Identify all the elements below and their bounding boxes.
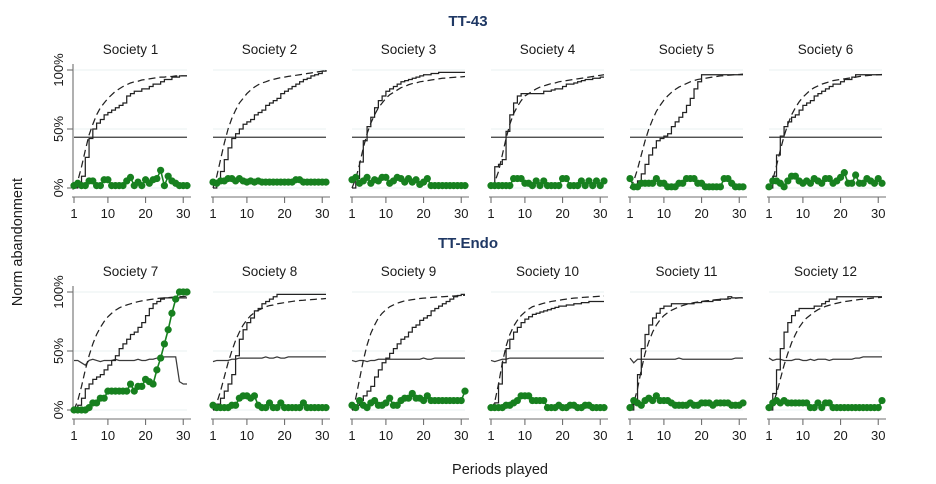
data-point-marker <box>168 310 175 317</box>
x-tick-label-10: 10 <box>657 428 671 443</box>
x-tick-label-10: 10 <box>796 428 810 443</box>
data-point-marker <box>150 380 157 387</box>
series-observed-abandonment <box>769 297 882 410</box>
data-point-marker <box>424 175 431 182</box>
series-tipping-threshold <box>491 358 604 362</box>
x-tick-label-1: 1 <box>70 428 77 443</box>
x-tick-label-10: 10 <box>379 428 393 443</box>
x-tick-label-1: 1 <box>765 206 772 221</box>
data-point-marker <box>322 404 329 411</box>
data-point-marker <box>123 388 130 395</box>
series-fitted-abandonment <box>352 76 465 188</box>
data-point-marker <box>600 177 607 184</box>
data-point-marker <box>251 392 258 399</box>
data-point-marker <box>875 404 882 411</box>
data-point-marker <box>878 397 885 404</box>
y-tick-label-50pct: 50% <box>51 338 66 364</box>
x-tick-label-10: 10 <box>796 206 810 221</box>
data-point-marker <box>97 182 104 189</box>
series-observed-abandonment <box>630 75 743 188</box>
data-point-marker <box>363 174 370 181</box>
x-tick-label-20: 20 <box>138 428 152 443</box>
data-point-marker <box>739 399 746 406</box>
data-point-marker <box>352 404 359 411</box>
x-tick-label-20: 20 <box>277 206 291 221</box>
data-point-marker <box>540 397 547 404</box>
data-point-marker <box>739 183 746 190</box>
x-axis-title: Periods played <box>452 462 548 478</box>
panel-title-society-9: Society 9 <box>381 264 437 279</box>
y-tick-label-0pct: 0% <box>51 400 66 419</box>
figure-root: TT-43TT-Endo0%50%100%1102030Society 1110… <box>0 0 936 484</box>
series-tipping-threshold <box>630 358 743 363</box>
panel-society-1: 0%50%100%1102030Society 1 <box>51 42 191 221</box>
series-fitted-abandonment <box>630 74 743 188</box>
band-title-tt-endo: TT-Endo <box>438 235 498 252</box>
series-observed-abandonment <box>352 294 465 410</box>
x-tick-label-10: 10 <box>657 206 671 221</box>
y-tick-label-100pct: 100% <box>51 53 66 87</box>
data-point-marker <box>386 395 393 402</box>
series-fitted-abandonment <box>74 76 187 188</box>
panel-title-society-4: Society 4 <box>520 42 576 57</box>
x-tick-label-30: 30 <box>871 428 885 443</box>
x-tick-label-10: 10 <box>518 428 532 443</box>
data-point-marker <box>461 388 468 395</box>
data-point-marker <box>157 167 164 174</box>
data-point-marker <box>458 397 465 404</box>
x-tick-label-30: 30 <box>176 206 190 221</box>
data-point-marker <box>232 402 239 409</box>
x-tick-label-20: 20 <box>694 206 708 221</box>
data-point-marker <box>165 326 172 333</box>
data-point-marker <box>461 182 468 189</box>
y-tick-label-0pct: 0% <box>51 178 66 197</box>
data-point-marker <box>878 180 885 187</box>
panel-title-society-7: Society 7 <box>103 264 159 279</box>
x-tick-label-1: 1 <box>765 428 772 443</box>
panel-title-society-2: Society 2 <box>242 42 298 57</box>
x-tick-label-20: 20 <box>138 206 152 221</box>
x-tick-label-10: 10 <box>379 206 393 221</box>
data-point-marker <box>848 180 855 187</box>
data-point-marker <box>101 395 108 402</box>
panel-title-society-10: Society 10 <box>516 264 579 279</box>
x-tick-label-1: 1 <box>348 206 355 221</box>
series-fitted-abandonment <box>769 297 882 410</box>
panel-title-society-6: Society 6 <box>798 42 854 57</box>
data-point-marker <box>161 340 168 347</box>
x-tick-label-30: 30 <box>732 206 746 221</box>
data-point-marker <box>104 176 111 183</box>
panel-title-society-1: Society 1 <box>103 42 159 57</box>
y-tick-label-50pct: 50% <box>51 116 66 142</box>
series-observed-abandonment <box>630 297 743 410</box>
x-tick-label-20: 20 <box>416 428 430 443</box>
data-point-marker <box>563 175 570 182</box>
x-tick-label-30: 30 <box>315 428 329 443</box>
x-tick-label-1: 1 <box>487 428 494 443</box>
data-point-marker <box>841 169 848 176</box>
x-tick-label-30: 30 <box>315 206 329 221</box>
x-tick-label-1: 1 <box>209 206 216 221</box>
data-point-marker <box>153 175 160 182</box>
multi-panel-chart: TT-43TT-Endo0%50%100%1102030Society 1110… <box>0 0 936 484</box>
data-point-marker <box>626 404 633 411</box>
panel-title-society-5: Society 5 <box>659 42 715 57</box>
x-tick-label-10: 10 <box>240 428 254 443</box>
x-tick-label-10: 10 <box>240 206 254 221</box>
x-tick-label-1: 1 <box>487 206 494 221</box>
data-point-marker <box>161 182 168 189</box>
x-tick-label-10: 10 <box>101 428 115 443</box>
data-point-marker <box>765 183 772 190</box>
series-fitted-abandonment <box>491 296 604 410</box>
x-tick-label-1: 1 <box>626 428 633 443</box>
panel-society-2: 1102030Society 2 <box>209 42 330 221</box>
panel-society-6: 1102030Society 6 <box>765 42 886 221</box>
series-observed-abandonment <box>74 76 187 188</box>
data-point-marker <box>852 171 859 178</box>
data-point-marker <box>555 182 562 189</box>
x-tick-label-1: 1 <box>626 206 633 221</box>
data-point-marker <box>506 182 513 189</box>
data-point-marker <box>157 354 164 361</box>
data-point-marker <box>780 183 787 190</box>
panel-title-society-8: Society 8 <box>242 264 298 279</box>
x-tick-label-30: 30 <box>593 206 607 221</box>
data-point-marker <box>153 366 160 373</box>
data-point-marker <box>717 183 724 190</box>
x-tick-label-30: 30 <box>732 428 746 443</box>
data-point-marker <box>138 182 145 189</box>
data-point-marker <box>183 182 190 189</box>
panel-society-7: 0%50%100%1102030Society 7 <box>51 264 191 443</box>
data-point-marker <box>183 288 190 295</box>
y-tick-label-100pct: 100% <box>51 275 66 309</box>
y-axis-title: Norm abandonment <box>10 178 26 306</box>
panel-title-society-3: Society 3 <box>381 42 437 57</box>
series-observed-abandonment <box>491 301 604 410</box>
data-point-marker <box>352 174 359 181</box>
series-fitted-abandonment <box>630 298 743 410</box>
x-tick-label-30: 30 <box>871 206 885 221</box>
panel-society-9: 1102030Society 9 <box>348 264 469 443</box>
data-point-marker <box>138 383 145 390</box>
panel-society-5: 1102030Society 5 <box>626 42 747 221</box>
x-tick-label-30: 30 <box>454 206 468 221</box>
x-tick-label-30: 30 <box>454 428 468 443</box>
panel-society-4: 1102030Society 4 <box>487 42 608 221</box>
panel-society-11: 1102030Society 11 <box>626 264 747 443</box>
x-tick-label-1: 1 <box>209 428 216 443</box>
series-observed-abandonment <box>213 294 326 410</box>
data-point-marker <box>600 404 607 411</box>
series-tipping-threshold <box>352 358 465 362</box>
x-tick-label-20: 20 <box>833 206 847 221</box>
panel-society-10: 1102030Society 10 <box>487 264 608 443</box>
x-tick-label-1: 1 <box>348 428 355 443</box>
x-tick-label-20: 20 <box>277 428 291 443</box>
data-point-marker <box>322 179 329 186</box>
data-point-marker <box>172 295 179 302</box>
x-tick-label-10: 10 <box>101 206 115 221</box>
data-point-marker <box>382 174 389 181</box>
panel-society-8: 1102030Society 8 <box>209 264 330 443</box>
panel-society-12: 1102030Society 12 <box>765 264 886 443</box>
data-point-marker <box>127 174 134 181</box>
series-fitted-abandonment <box>213 298 326 410</box>
x-tick-label-20: 20 <box>833 428 847 443</box>
x-tick-label-10: 10 <box>518 206 532 221</box>
panel-title-society-12: Society 12 <box>794 264 857 279</box>
data-point-marker <box>626 175 633 182</box>
band-title-tt-43: TT-43 <box>448 13 487 30</box>
series-tipping-threshold <box>74 357 187 384</box>
x-tick-label-20: 20 <box>694 428 708 443</box>
x-tick-label-1: 1 <box>70 206 77 221</box>
x-tick-label-20: 20 <box>416 206 430 221</box>
panel-society-3: 1102030Society 3 <box>348 42 469 221</box>
x-tick-label-30: 30 <box>176 428 190 443</box>
x-tick-label-20: 20 <box>555 428 569 443</box>
x-tick-label-30: 30 <box>593 428 607 443</box>
panel-title-society-11: Society 11 <box>655 264 717 279</box>
x-tick-label-20: 20 <box>555 206 569 221</box>
data-point-marker <box>127 380 134 387</box>
series-fitted-abandonment <box>352 295 465 410</box>
